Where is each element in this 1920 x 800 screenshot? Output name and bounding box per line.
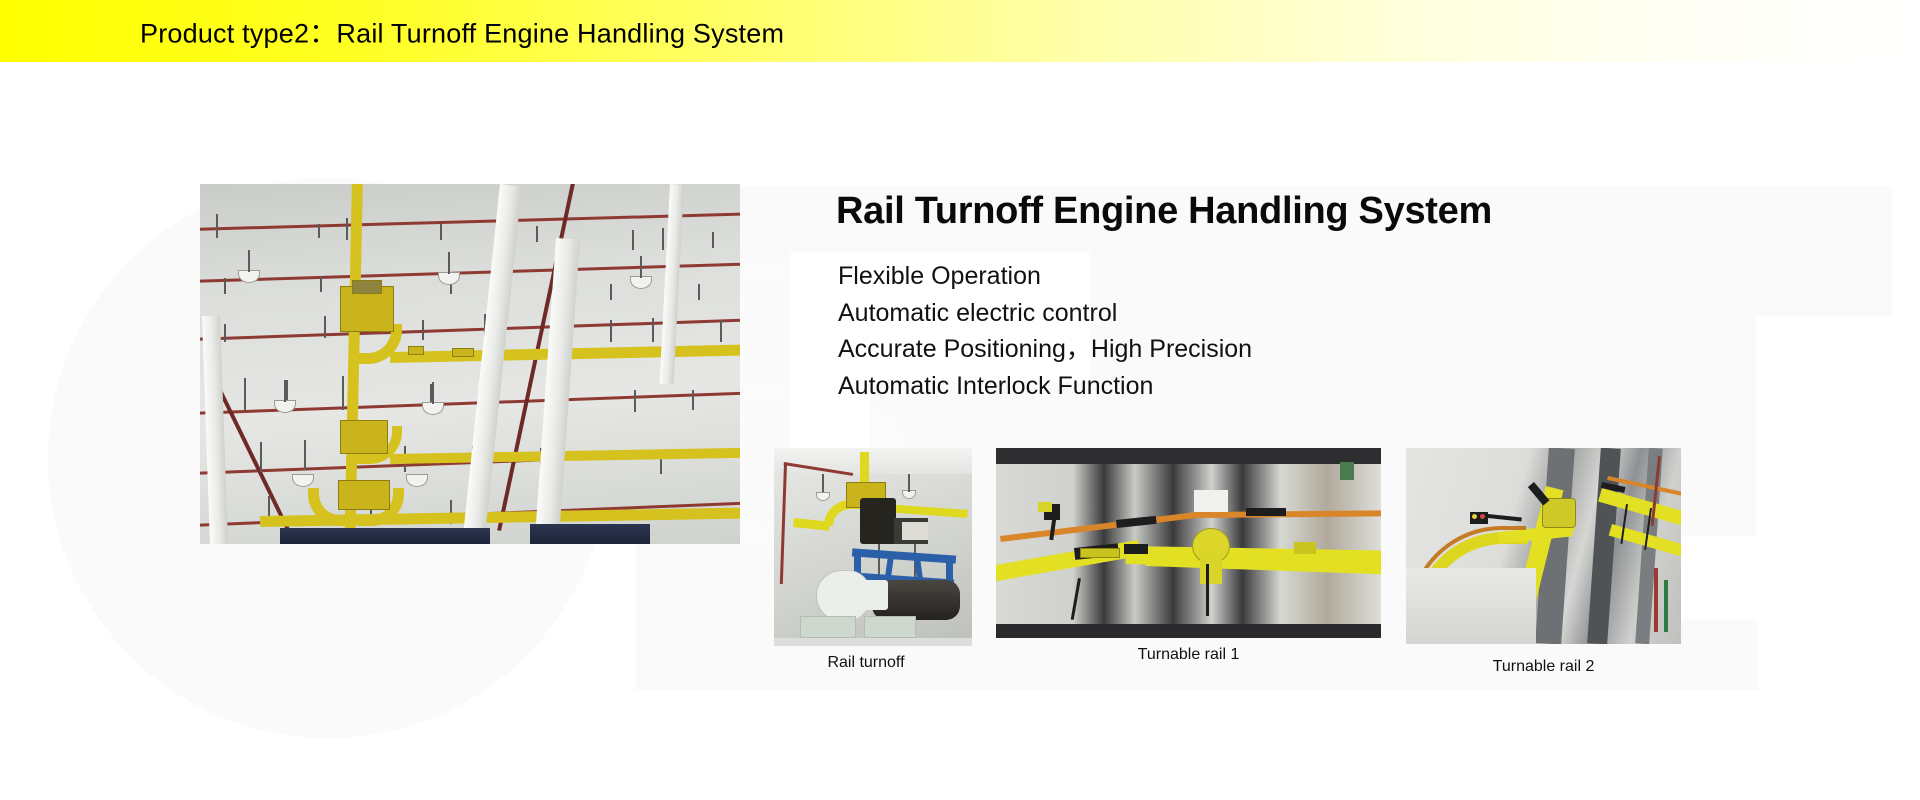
thumbnail-item: Rail turnoff [774, 448, 972, 672]
feature-item: Automatic Interlock Function [838, 368, 1252, 405]
feature-item: Flexible Operation [838, 258, 1252, 295]
thumbnail-item: Turnable rail 2 [1406, 448, 1681, 676]
header-banner: Product type2：Rail Turnoff Engine Handli… [0, 0, 1920, 62]
thumbnail-photo-turnable-rail-2 [1406, 448, 1681, 644]
hero-photo [200, 184, 740, 544]
feature-list: Flexible Operation Automatic electric co… [838, 258, 1252, 404]
header-banner-label: Product type2：Rail Turnoff Engine Handli… [140, 12, 784, 51]
thumbnail-photo-rail-turnoff [774, 448, 972, 646]
thumbnail-caption: Rail turnoff [760, 654, 972, 672]
thumbnail-caption: Turnable rail 2 [1406, 658, 1681, 676]
thumbnail-caption: Turnable rail 1 [996, 646, 1381, 664]
slide-root: B Product type2：Rail Turnoff Engine Hand… [0, 0, 1920, 800]
thumbnail-photo-turnable-rail-1 [996, 448, 1381, 638]
thumbnail-gallery: Rail turnoff [774, 448, 1684, 608]
thumbnail-item: Turnable rail 1 [996, 448, 1381, 664]
page-title: Rail Turnoff Engine Handling System [836, 190, 1492, 233]
feature-item: Automatic electric control [838, 295, 1252, 332]
feature-item: Accurate Positioning，High Precision [838, 331, 1252, 368]
